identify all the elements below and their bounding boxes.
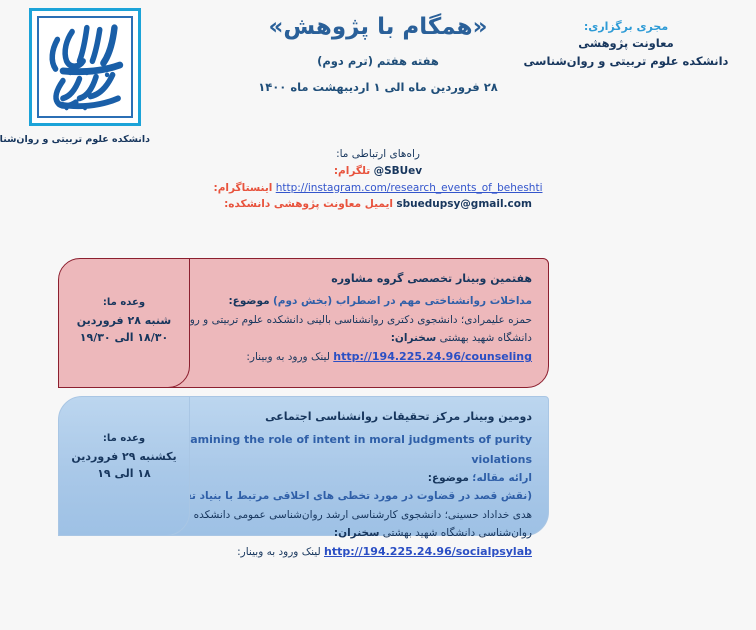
event-2-webinar-link[interactable]: http://194.225.24.96/socialpsylab <box>324 542 532 561</box>
organizer-line-2: دانشکده علوم تربیتی و روان‌شناسی <box>510 53 742 71</box>
contact-heading: راه‌های ارتباطی ما: <box>0 146 756 163</box>
event-2-topic: Reexamining the role of intent in moral … <box>133 430 532 487</box>
event-1-speaker: حمزه علیمرادی؛ دانشجوی دکتری روانشناسی ب… <box>133 311 532 348</box>
event-2-speaker-text: هدی خداداد حسینی؛ دانشجوی کارشناسی ارشد … <box>134 509 532 539</box>
event-1-schedule-time: ۱۸/۳۰ الی ۱۹/۳۰ <box>59 330 189 347</box>
event-2-topic-en: Reexamining the role of intent in moral … <box>133 430 532 469</box>
event-2-speaker-label: سخنران: <box>334 527 379 539</box>
instagram-label: اینستاگرام: <box>214 182 273 194</box>
event-2-topic-fa: ارائه مقاله؛ <box>472 472 532 484</box>
event-card-1: هفتمین وبینار تخصصی گروه مشاوره مداخلات … <box>0 258 756 388</box>
event-1-speaker-label: سخنران: <box>391 332 436 344</box>
events-list: هفتمین وبینار تخصصی گروه مشاوره مداخلات … <box>0 258 756 544</box>
event-card-2: دومین وبینار مرکز تحقیقات روانشناسی اجتم… <box>0 396 756 536</box>
organizer-block: مجری برگزاری: معاونت پژوهشی دانشکده علوم… <box>510 18 742 71</box>
date-range: ۲۸ فروردین ماه الی ۱ اردیبهشت ماه ۱۴۰۰ <box>0 80 756 94</box>
event-1-schedule-label: وعده ما: <box>59 295 189 310</box>
contact-row-telegram: @SBUev تلگرام: <box>0 163 756 180</box>
event-2-speaker: هدی خداداد حسینی؛ دانشجوی کارشناسی ارشد … <box>133 506 532 543</box>
email-address: sbuedupsy@gmail.com <box>396 196 532 213</box>
contact-row-email: sbuedupsy@gmail.com ایمیل معاونت پژوهشی … <box>0 196 756 213</box>
poster-header: دانشکده علوم تربیتی و روان‌شناسی «همگام … <box>0 0 756 150</box>
event-1-title: هفتمین وبینار تخصصی گروه مشاوره <box>133 269 532 288</box>
event-1-webinar-link[interactable]: http://194.225.24.96/counseling <box>333 347 532 366</box>
organizer-label: مجری برگزاری: <box>510 18 742 35</box>
event-2-topic-label: موضوع: <box>428 472 469 484</box>
event-1-topic: مداخلات روانشناختی مهم در اضطراب (بخش دو… <box>133 292 532 310</box>
event-1-speaker-text: حمزه علیمرادی؛ دانشجوی دکتری روانشناسی ب… <box>151 314 532 344</box>
event-2-schedule-time: ۱۸ الی ۱۹ <box>59 466 189 483</box>
event-2-title: دومین وبینار مرکز تحقیقات روانشناسی اجتم… <box>133 407 532 426</box>
event-2-schedule-day: یکشنبه ۲۹ فروردین <box>59 449 189 466</box>
email-label: ایمیل معاونت پژوهشی دانشکده: <box>224 198 393 210</box>
event-2-schedule-label: وعده ما: <box>59 431 189 446</box>
organizer-line-1: معاونت پژوهشی <box>510 35 742 53</box>
instagram-link[interactable]: http://instagram.com/research_events_of_… <box>276 180 543 197</box>
event-1-link-row: http://194.225.24.96/counseling لینک ورو… <box>133 347 532 366</box>
event-1-topic-text: مداخلات روانشناختی مهم در اضطراب (بخش دو… <box>273 295 532 307</box>
event-1-schedule: وعده ما: شنبه ۲۸ فروردین ۱۸/۳۰ الی ۱۹/۳۰ <box>58 258 190 388</box>
event-2-link-row: http://194.225.24.96/socialpsylab لینک و… <box>133 542 532 561</box>
event-1-link-label: لینک ورود به وبینار: <box>246 351 330 363</box>
event-2-topic-fa-2: (نقش قصد در قضاوت در مورد تخطی های اخلاق… <box>159 490 532 502</box>
contact-block: راه‌های ارتباطی ما: @SBUev تلگرام: http:… <box>0 146 756 213</box>
event-2-schedule: وعده ما: یکشنبه ۲۹ فروردین ۱۸ الی ۱۹ <box>58 396 190 536</box>
logo-caption: دانشکده علوم تربیتی و روان‌شناسی <box>20 134 150 145</box>
event-2-topic-translation: (نقش قصد در قضاوت در مورد تخطی های اخلاق… <box>133 487 532 505</box>
contact-row-instagram: http://instagram.com/research_events_of_… <box>0 180 756 197</box>
telegram-label: تلگرام: <box>334 165 370 177</box>
event-1-schedule-day: شنبه ۲۸ فروردین <box>59 313 189 330</box>
event-1-topic-label: موضوع: <box>228 295 269 307</box>
telegram-handle: @SBUev <box>374 163 423 180</box>
poster-root: دانشکده علوم تربیتی و روان‌شناسی «همگام … <box>0 0 756 630</box>
event-2-link-label: لینک ورود به وبینار: <box>237 546 321 558</box>
